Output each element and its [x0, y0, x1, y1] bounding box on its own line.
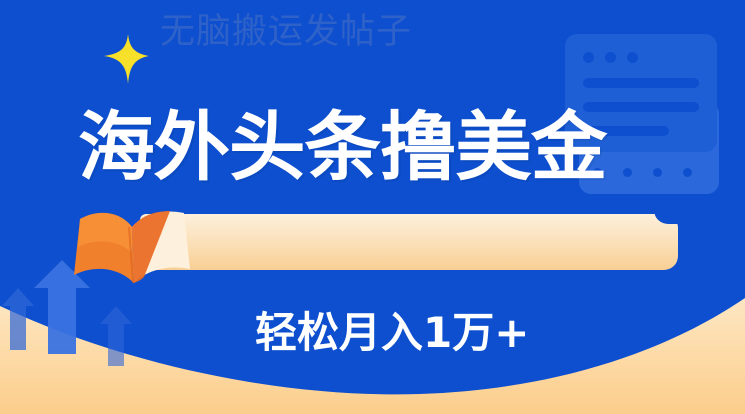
decor-window-dot — [583, 52, 594, 63]
ribbon-banner — [140, 214, 678, 270]
ribbon-body — [140, 214, 678, 270]
decor-window-dot — [605, 52, 616, 63]
poster-title: 海外头条撸美金 — [78, 92, 710, 188]
decor-window-dot — [627, 52, 638, 63]
star-icon — [104, 34, 150, 84]
poster-subline: 轻松月入1万+ — [255, 300, 529, 358]
open-book-icon — [72, 203, 194, 289]
ribbon-label: 无脑搬运发帖子 — [160, 0, 412, 56]
poster-canvas: 海外头条撸美金 无脑搬运发帖子 — [0, 0, 745, 414]
